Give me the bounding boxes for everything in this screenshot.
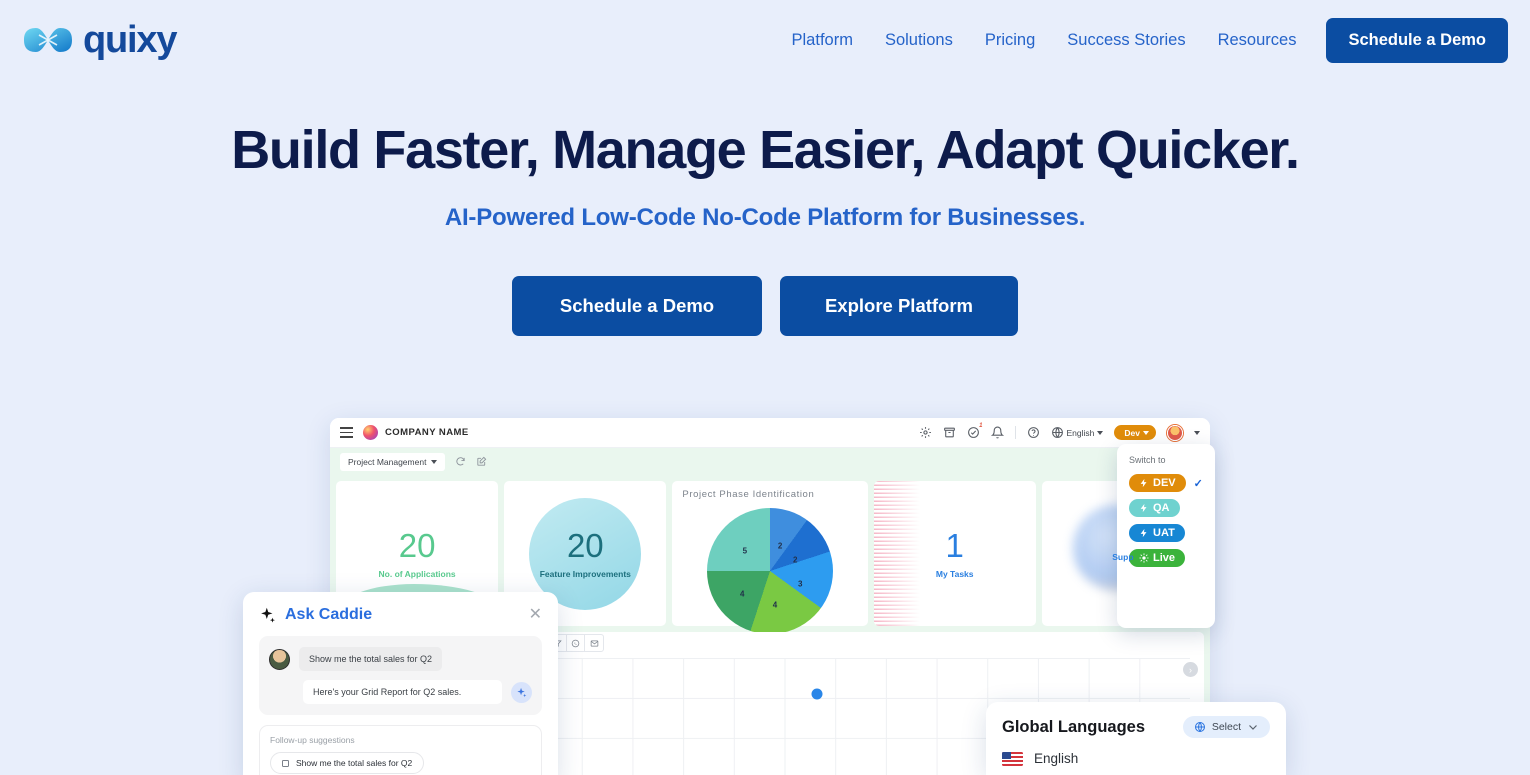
caddie-header: Ask Caddie ✕	[259, 606, 542, 624]
pie-graphic: 2 2 3 4 4 5	[707, 508, 833, 634]
chevron-down-icon	[1143, 431, 1149, 435]
page-title: Build Faster, Manage Easier, Adapt Quick…	[0, 120, 1530, 180]
languages-title: Global Languages	[1002, 718, 1145, 737]
hero-schedule-demo-button[interactable]: Schedule a Demo	[512, 276, 762, 336]
app-subbar: Project Management	[330, 448, 1210, 475]
bot-message-text: Here's your Grid Report for Q2 sales.	[303, 680, 502, 704]
env-option-live[interactable]: Live	[1129, 549, 1203, 567]
switch-environment-popover: Switch to DEV ✓ QA UAT	[1117, 444, 1215, 628]
sparkle-icon	[259, 607, 276, 624]
workspace-selector[interactable]: Project Management	[340, 453, 445, 471]
avatar[interactable]	[1167, 425, 1183, 441]
env-label: QA	[1153, 502, 1170, 514]
stripe-decoration	[874, 481, 920, 626]
lightning-icon	[1139, 478, 1149, 488]
env-option-uat[interactable]: UAT	[1129, 524, 1203, 542]
hamburger-icon[interactable]	[340, 427, 353, 438]
pie-chart-card: Project Phase Identification 2 2 3 4 4 5	[672, 481, 867, 626]
bell-icon[interactable]	[991, 426, 1004, 439]
profile-chevron-down-icon[interactable]	[1194, 431, 1200, 435]
env-option-dev[interactable]: DEV ✓	[1129, 474, 1203, 492]
topbar-divider	[1015, 426, 1016, 439]
stat-card-my-tasks[interactable]: 1 My Tasks	[874, 481, 1036, 626]
close-icon[interactable]: ✕	[529, 607, 542, 623]
email-icon[interactable]	[585, 635, 603, 651]
stat-value: 20	[567, 529, 604, 562]
pie-label: 3	[798, 579, 802, 588]
env-label: UAT	[1153, 527, 1175, 539]
stat-value: 20	[399, 529, 436, 562]
globe-icon	[1194, 721, 1206, 733]
sparkle-icon	[511, 682, 532, 703]
user-message-text: Show me the total sales for Q2	[299, 647, 442, 671]
whatsapp-icon[interactable]	[567, 635, 585, 651]
nav-link-platform[interactable]: Platform	[776, 21, 869, 60]
brand-name: quixy	[83, 21, 176, 59]
app-topbar-icons: 1	[919, 425, 1200, 441]
pie-label: 4	[740, 589, 744, 598]
company-name: COMPANY NAME	[385, 427, 469, 438]
us-flag-icon	[1002, 752, 1023, 766]
chat-message-user: Show me the total sales for Q2	[269, 647, 532, 671]
tasks-badge: 1	[979, 423, 982, 429]
stat-label: Feature Improvements	[540, 569, 631, 579]
language-select-button[interactable]: Select	[1183, 716, 1270, 738]
help-icon[interactable]	[1027, 426, 1040, 439]
env-option-qa[interactable]: QA	[1129, 499, 1203, 517]
copy-icon	[282, 760, 289, 767]
header-schedule-demo-button[interactable]: Schedule a Demo	[1326, 18, 1508, 63]
languages-header: Global Languages Select	[1002, 716, 1270, 738]
hero-section: Build Faster, Manage Easier, Adapt Quick…	[0, 120, 1530, 336]
followups-title: Follow-up suggestions	[270, 735, 531, 745]
followup-label: Show me the total sales for Q2	[296, 758, 412, 768]
refresh-icon[interactable]	[455, 456, 466, 467]
site-header: quixy Platform Solutions Pricing Success…	[0, 0, 1530, 80]
hero-buttons: Schedule a Demo Explore Platform	[0, 276, 1530, 336]
pie-chart-title: Project Phase Identification	[682, 489, 857, 500]
quixy-infinity-logo-icon	[22, 20, 74, 60]
edit-icon[interactable]	[476, 456, 487, 467]
sun-icon	[1139, 553, 1149, 563]
pie-chart-plot: 2 2 3 4 4 5	[682, 508, 857, 634]
language-selector[interactable]: English	[1051, 426, 1104, 439]
risk-data-point[interactable]	[811, 689, 822, 700]
nav-link-resources[interactable]: Resources	[1202, 21, 1313, 60]
main-nav: Platform Solutions Pricing Success Stori…	[776, 18, 1508, 63]
nav-link-success-stories[interactable]: Success Stories	[1051, 21, 1201, 60]
pie-label: 4	[773, 601, 777, 610]
company-logo-icon	[363, 425, 378, 440]
chevron-down-icon	[1097, 431, 1103, 435]
settings-icon[interactable]	[919, 426, 932, 439]
chevron-down-icon	[431, 460, 437, 464]
stat-label: No. of Applications	[379, 569, 456, 579]
chevron-right-icon[interactable]: ›	[1183, 662, 1198, 677]
caddie-followups: Follow-up suggestions Show me the total …	[259, 725, 542, 775]
language-name: English	[1034, 751, 1078, 766]
workspace-label: Project Management	[348, 457, 426, 467]
chat-message-bot: Here's your Grid Report for Q2 sales.	[269, 680, 532, 704]
tasks-icon[interactable]: 1	[967, 426, 980, 439]
language-value: English	[1067, 428, 1095, 438]
env-label: Live	[1153, 552, 1175, 564]
global-languages-panel: Global Languages Select English	[986, 702, 1286, 775]
followup-suggestion[interactable]: Show me the total sales for Q2	[270, 752, 424, 774]
brand-logo[interactable]: quixy	[22, 20, 176, 60]
archive-icon[interactable]	[943, 426, 956, 439]
environment-value: Dev	[1124, 428, 1140, 438]
pie-label: 5	[743, 546, 747, 555]
select-label: Select	[1212, 721, 1241, 733]
avatar	[269, 649, 290, 670]
switch-to-heading: Switch to	[1129, 455, 1203, 465]
check-icon: ✓	[1194, 477, 1203, 490]
environment-selector[interactable]: Dev	[1114, 425, 1156, 440]
nav-link-pricing[interactable]: Pricing	[969, 21, 1051, 60]
nav-link-solutions[interactable]: Solutions	[869, 21, 969, 60]
pie-label: 2	[793, 555, 797, 564]
landing-page: quixy Platform Solutions Pricing Success…	[0, 0, 1530, 775]
globe-icon	[1051, 426, 1064, 439]
language-list-item[interactable]: English	[1002, 751, 1270, 766]
lightning-icon	[1139, 528, 1149, 538]
app-topbar: COMPANY NAME	[330, 418, 1210, 448]
ask-caddie-panel: Ask Caddie ✕ Show me the total sales for…	[243, 592, 558, 775]
stat-label: Supp	[1112, 552, 1133, 562]
pie-label: 2	[778, 541, 782, 550]
lightning-icon	[1139, 503, 1149, 513]
caddie-chat: Show me the total sales for Q2 Here's yo…	[259, 636, 542, 715]
chevron-down-icon	[1247, 721, 1259, 733]
stat-label: My Tasks	[936, 569, 974, 579]
stat-value: 1	[946, 529, 964, 562]
caddie-title: Ask Caddie	[285, 606, 372, 624]
hero-explore-platform-button[interactable]: Explore Platform	[780, 276, 1018, 336]
hero-subtitle: AI-Powered Low-Code No-Code Platform for…	[0, 204, 1530, 232]
env-label: DEV	[1153, 477, 1176, 489]
